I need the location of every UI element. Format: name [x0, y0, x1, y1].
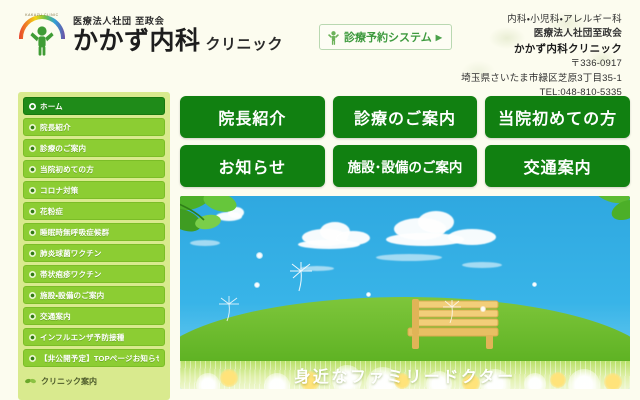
quick-link-button-1[interactable]: 診療のご案内 — [333, 96, 478, 138]
clinic-info-heading: クリニック案内 — [23, 376, 165, 387]
quick-link-button-3[interactable]: お知らせ — [180, 145, 325, 187]
reservation-system-button[interactable]: 診療予約システム ▶ — [319, 24, 452, 50]
person-glyph-icon — [30, 24, 54, 56]
clinic-name-label: かかず内科クリニック — [461, 42, 622, 58]
cloud-shape — [298, 240, 360, 249]
departments-label: 内科・小児科・アレルギー科 — [461, 13, 622, 27]
sidebar-item-label: コロナ対策 — [40, 185, 79, 196]
sidebar-item-label: 院長紹介 — [40, 122, 71, 133]
dandelion-seed-icon — [288, 262, 314, 292]
quick-link-button-2[interactable]: 当院初めての方 — [485, 96, 630, 138]
dandelion-seed-icon — [442, 300, 462, 324]
sidebar-nav: ホーム院長紹介診療のご案内当院初めての方コロナ対策花粉症睡眠時無呼吸症候群肺炎球… — [18, 92, 170, 400]
chevron-right-icon — [29, 313, 36, 320]
chevron-right-icon — [29, 250, 36, 257]
fluff-dot — [480, 306, 486, 312]
cloud-shape — [376, 254, 442, 261]
brand-logo-block[interactable]: KAKAZU CLINIC 医療法人社団 至政会 かかず内科 クリニック — [18, 8, 283, 58]
chevron-right-icon — [29, 145, 36, 152]
sidebar-item-6[interactable]: 睡眠時無呼吸症候群 — [23, 223, 165, 241]
hero-tagline: 身近なファミリードクター — [180, 363, 630, 387]
cloud-shape — [418, 211, 454, 233]
sidebar-item-2[interactable]: 診療のご案内 — [23, 139, 165, 157]
brand-name-row: かかず内科 クリニック — [73, 28, 283, 54]
sidebar-item-5[interactable]: 花粉症 — [23, 202, 165, 220]
sidebar-item-8[interactable]: 帯状疱疹ワクチン — [23, 265, 165, 283]
sidebar-item-9[interactable]: 施設・設備のご案内 — [23, 286, 165, 304]
sidebar-item-label: 交通案内 — [40, 311, 71, 322]
dandelion-seed-icon — [218, 296, 240, 322]
clinic-info-label: クリニック案内 — [41, 376, 97, 387]
postal-code-label: 〒336-0917 — [461, 57, 622, 71]
person-glyph-icon — [327, 30, 340, 45]
chevron-right-icon — [29, 208, 36, 215]
rainbow-person-logo-icon: KAKAZU CLINIC — [18, 12, 66, 58]
chevron-right-icon — [29, 166, 36, 173]
chevron-right-icon: ▶ — [436, 33, 442, 42]
sidebar-item-7[interactable]: 肺炎球菌ワクチン — [23, 244, 165, 262]
sidebar-item-3[interactable]: 当院初めての方 — [23, 160, 165, 178]
sidebar-item-0[interactable]: ホーム — [23, 97, 165, 115]
sidebar-item-label: 睡眠時無呼吸症候群 — [40, 227, 109, 238]
brand-name-kana: クリニック — [206, 33, 284, 54]
fluff-dot — [256, 252, 263, 259]
sidebar-item-12[interactable]: 【非公開予定】TOPページお知らせ イン — [23, 349, 165, 367]
sidebar-item-label: インフルエンザ予防接種 — [40, 332, 124, 343]
chevron-right-icon — [29, 292, 36, 299]
quick-link-button-0[interactable]: 院長紹介 — [180, 96, 325, 138]
reservation-system-label: 診療予約システム — [344, 29, 432, 45]
chevron-right-icon — [29, 124, 36, 131]
telephone-label: TEL:048-810-5335 — [461, 86, 622, 100]
fluff-dot — [366, 292, 371, 297]
brand-text-block: 医療法人社団 至政会 かかず内科 クリニック — [73, 12, 283, 54]
sidebar-item-label: 当院初めての方 — [40, 164, 94, 175]
chevron-right-icon — [29, 355, 36, 362]
bullet-active-icon — [29, 103, 36, 110]
sidebar-item-1[interactable]: 院長紹介 — [23, 118, 165, 136]
chevron-right-icon — [29, 334, 36, 341]
main-column: 院長紹介診療のご案内当院初めての方お知らせ施設･設備のご案内交通案内 — [180, 92, 630, 400]
sidebar-item-10[interactable]: 交通案内 — [23, 307, 165, 325]
site-header: KAKAZU CLINIC 医療法人社団 至政会 かかず内科 クリニック — [0, 0, 640, 92]
cloud-shape — [462, 262, 502, 268]
chevron-right-icon — [29, 187, 36, 194]
chevron-right-icon — [29, 229, 36, 236]
address-label: 埼玉県さいたま市緑区芝原3丁目35-1 — [461, 72, 622, 86]
sidebar-item-label: ホーム — [40, 101, 63, 112]
fluff-dot — [254, 282, 260, 288]
sidebar-item-label: 帯状疱疹ワクチン — [40, 269, 102, 280]
page-content: ホーム院長紹介診療のご案内当院初めての方コロナ対策花粉症睡眠時無呼吸症候群肺炎球… — [0, 92, 640, 400]
header-contact-info: 内科・小児科・アレルギー科 医療法人社団至政会 かかず内科クリニック 〒336-… — [461, 8, 630, 100]
quick-links-grid: 院長紹介診療のご案内当院初めての方お知らせ施設･設備のご案内交通案内 — [180, 96, 630, 187]
sidebar-item-4[interactable]: コロナ対策 — [23, 181, 165, 199]
brand-name-main: かかず内科 — [73, 28, 201, 54]
quick-link-button-4[interactable]: 施設･設備のご案内 — [333, 145, 478, 187]
cloud-shape — [448, 229, 496, 245]
sidebar-item-11[interactable]: インフルエンザ予防接種 — [23, 328, 165, 346]
sidebar-item-label: 花粉症 — [40, 206, 63, 217]
sidebar-item-label: 肺炎球菌ワクチン — [40, 248, 102, 259]
hero-banner: 身近なファミリードクター — [180, 196, 630, 389]
leaf-icon — [25, 377, 36, 386]
chevron-right-icon — [29, 271, 36, 278]
leaf-cluster-icon — [554, 196, 630, 244]
corporation-label: 医療法人社団至政会 — [461, 27, 622, 41]
fluff-dot — [532, 282, 537, 287]
sidebar-item-label: 診療のご案内 — [40, 143, 86, 154]
quick-link-button-5[interactable]: 交通案内 — [485, 145, 630, 187]
sidebar-item-label: 施設・設備のご案内 — [40, 290, 104, 301]
sidebar-item-label: 【非公開予定】TOPページお知らせ イン — [40, 353, 159, 364]
leaf-cluster-icon — [180, 196, 270, 258]
brand-corporation-label: 医療法人社団 至政会 — [73, 14, 283, 27]
